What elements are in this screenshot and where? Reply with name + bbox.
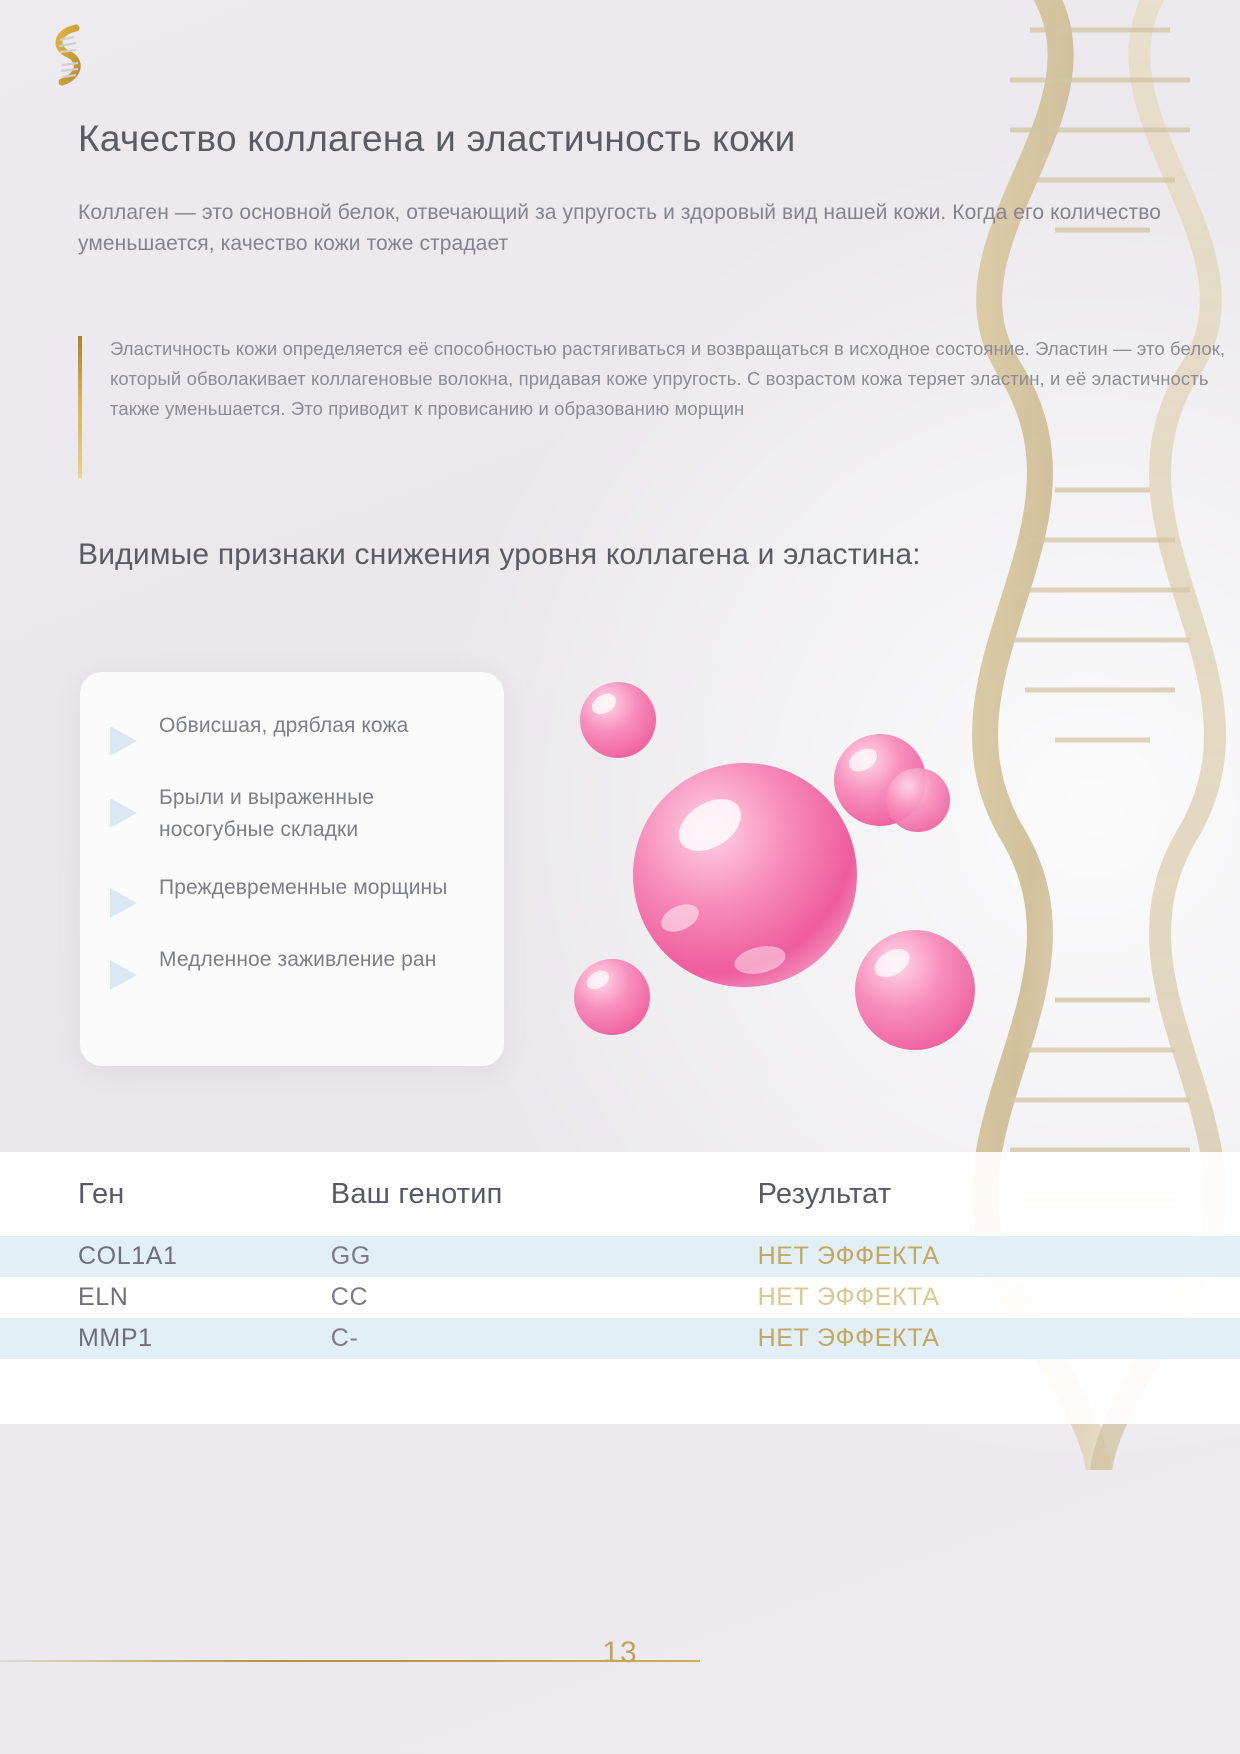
cell-result: НЕТ ЭФФЕКТА [758, 1277, 1240, 1318]
column-header-genotype: Ваш генотип [331, 1152, 758, 1236]
table-row: COL1A1 GG НЕТ ЭФФЕКТА [0, 1236, 1240, 1277]
table-background-band-lower [0, 1392, 1240, 1424]
page-number: 13 [0, 1636, 1240, 1670]
table-row: ELN CC НЕТ ЭФФЕКТА [0, 1277, 1240, 1318]
list-item: Медленное заживление ран [102, 944, 478, 990]
collagen-bubbles-illustration [560, 660, 1020, 1080]
dna-helix-logo-icon [38, 20, 98, 92]
report-page: Качество коллагена и эластичность кожи К… [0, 0, 1240, 1754]
triangle-bullet-icon [110, 798, 137, 828]
section-subtitle: Видимые признаки снижения уровня коллаге… [78, 532, 921, 577]
column-header-gene: Ген [0, 1152, 331, 1236]
visible-signs-card: Обвисшая, дряблая кожа Брыли и выраженны… [80, 672, 504, 1066]
cell-result: НЕТ ЭФФЕКТА [758, 1236, 1240, 1277]
cell-genotype: GG [331, 1236, 758, 1277]
cell-result: НЕТ ЭФФЕКТА [758, 1318, 1240, 1359]
list-item: Брыли и выраженные носогубные складки [102, 782, 478, 846]
genotype-results-table: Ген Ваш генотип Результат COL1A1 GG НЕТ … [0, 1152, 1240, 1359]
list-item-label: Брыли и выраженные носогубные складки [159, 782, 478, 846]
triangle-bullet-icon [110, 888, 137, 918]
triangle-bullet-icon [110, 726, 137, 756]
signs-list: Обвисшая, дряблая кожа Брыли и выраженны… [80, 672, 504, 990]
list-item: Преждевременные морщины [102, 872, 478, 918]
cell-gene: ELN [0, 1277, 331, 1318]
column-header-result: Результат [758, 1152, 1240, 1236]
cell-genotype: CC [331, 1277, 758, 1318]
cell-gene: MMP1 [0, 1318, 331, 1359]
cell-genotype: C- [331, 1318, 758, 1359]
quote-block: Эластичность кожи определяется её способ… [78, 334, 1240, 424]
intro-paragraph: Коллаген — это основной белок, отвечающи… [78, 197, 1240, 259]
table-header-row: Ген Ваш генотип Результат [0, 1152, 1240, 1236]
list-item: Обвисшая, дряблая кожа [102, 710, 478, 756]
triangle-bullet-icon [110, 960, 137, 990]
table-body: COL1A1 GG НЕТ ЭФФЕКТА ELN CC НЕТ ЭФФЕКТА… [0, 1236, 1240, 1359]
cell-gene: COL1A1 [0, 1236, 331, 1277]
table-header: Ген Ваш генотип Результат [0, 1152, 1240, 1236]
list-item-label: Медленное заживление ран [159, 944, 436, 976]
list-item-label: Преждевременные морщины [159, 872, 447, 904]
table-row: MMP1 C- НЕТ ЭФФЕКТА [0, 1318, 1240, 1359]
page-title: Качество коллагена и эластичность кожи [78, 118, 796, 160]
list-item-label: Обвисшая, дряблая кожа [159, 710, 408, 742]
